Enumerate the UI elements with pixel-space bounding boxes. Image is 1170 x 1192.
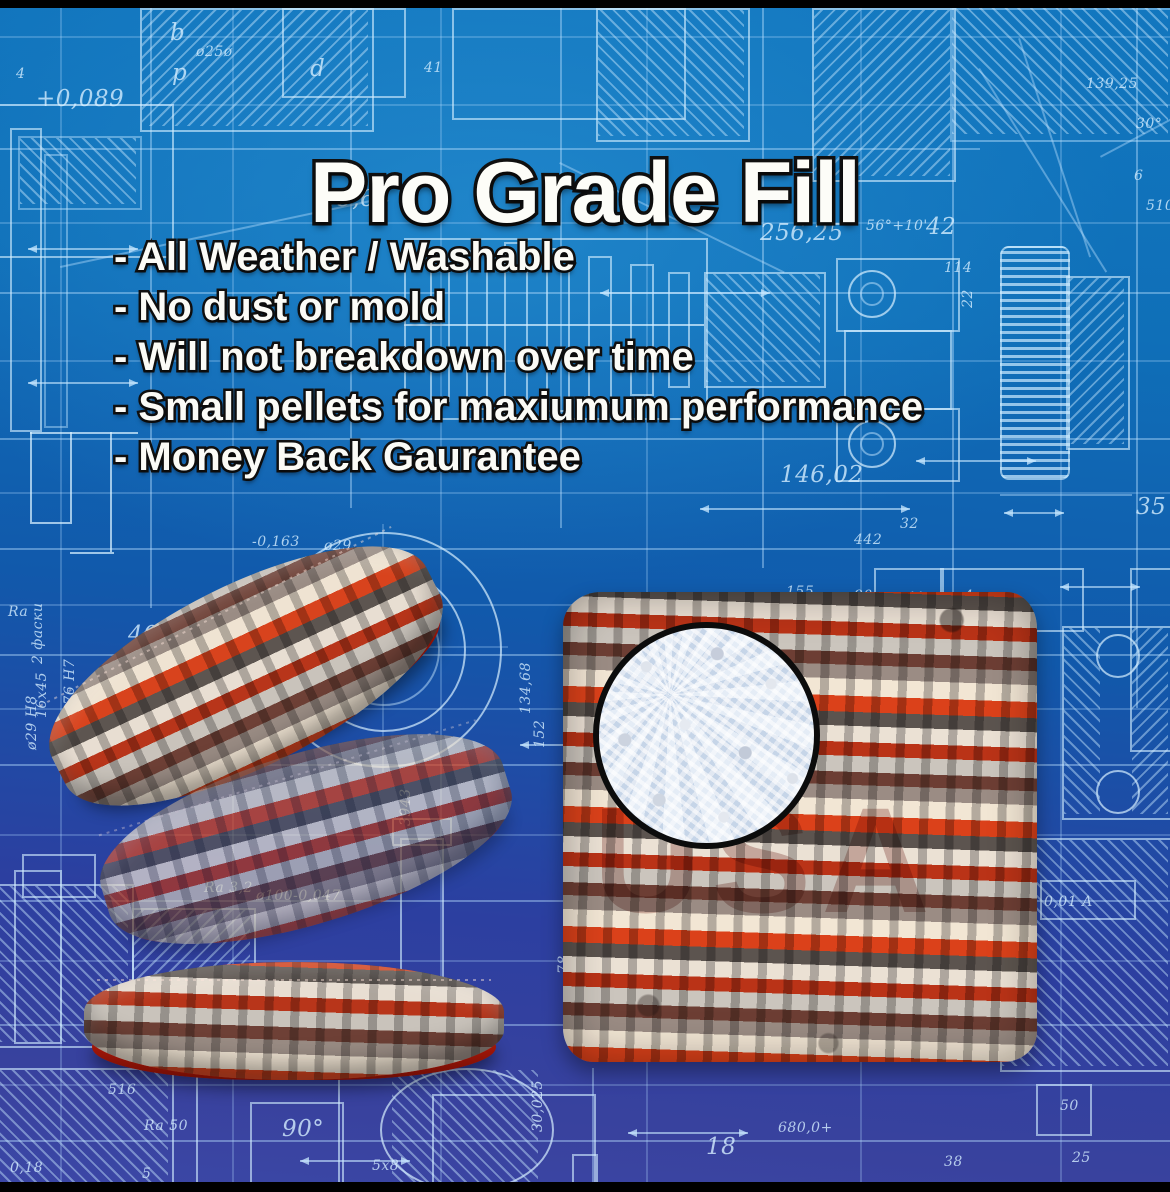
blueprint-dimension-label: b <box>170 20 185 46</box>
blueprint-dimension-label: 2 фаски <box>30 603 46 664</box>
blueprint-dimension-label: p <box>172 60 187 86</box>
bag-stitching <box>97 979 492 981</box>
cornhole-bag-bottom <box>84 962 504 1080</box>
blueprint-dimension-label: 5x8 <box>372 1158 399 1174</box>
bottom-letterbox-bar <box>0 1182 1170 1192</box>
pellet-closeup-circle <box>593 622 820 849</box>
blueprint-dimension-label: -0,163 <box>252 534 300 550</box>
blueprint-dimension-label: 30° <box>1136 116 1162 132</box>
blueprint-dimension-label: 35 <box>1136 494 1166 520</box>
page-title: Pro Grade Fill <box>0 150 1170 236</box>
poster-canvas: +0,0894bø25øpd4115,64139,2530°6510256,25… <box>0 0 1170 1192</box>
blueprint-dimension-label: 134,68 <box>518 662 534 714</box>
feature-item: - All Weather / Washable <box>114 232 1114 282</box>
blueprint-dimension-label: 38 <box>944 1154 963 1170</box>
blueprint-dimension-label: 152 <box>532 720 548 748</box>
blueprint-dimension-label: Ra 50 <box>144 1118 188 1134</box>
blueprint-dimension-label: 4 <box>16 66 25 82</box>
blueprint-dimension-label: 32 <box>900 516 919 532</box>
blueprint-dimension-label: 516 <box>108 1082 136 1098</box>
blueprint-dimension-label: ø25ø <box>196 44 233 60</box>
blueprint-dimension-label: Ra <box>8 604 28 620</box>
blueprint-dimension-label: 0,01 A <box>1044 894 1093 910</box>
blueprint-dimension-label: 30,025 <box>530 1080 546 1132</box>
feature-item: - Money Back Gaurantee <box>114 432 1114 482</box>
top-letterbox-bar <box>0 0 1170 8</box>
blueprint-dimension-label: +0,089 <box>36 86 124 112</box>
blueprint-dimension-label: 680,0+ <box>778 1120 833 1136</box>
feature-list: - All Weather / Washable - No dust or mo… <box>114 232 1114 482</box>
blueprint-dimension-label: 442 <box>854 532 882 548</box>
blueprint-dimension-label: 50 <box>1060 1098 1079 1114</box>
feature-item: - Will not breakdown over time <box>114 332 1114 382</box>
blueprint-dimension-label: 18 <box>706 1134 736 1160</box>
blueprint-dimension-label: 0,18 <box>10 1160 43 1176</box>
feature-item: - No dust or mold <box>114 282 1114 332</box>
blueprint-dimension-label: 90° <box>282 1116 324 1142</box>
blueprint-dimension-label: 41 <box>424 60 443 76</box>
blueprint-dimension-label: 25 <box>1072 1150 1091 1166</box>
blueprint-dimension-label: 5 <box>142 1166 151 1182</box>
feature-item: - Small pellets for maxiumum performance <box>114 382 1114 432</box>
blueprint-dimension-label: 139,25 <box>1086 76 1138 92</box>
blueprint-dimension-label: d <box>310 56 325 82</box>
